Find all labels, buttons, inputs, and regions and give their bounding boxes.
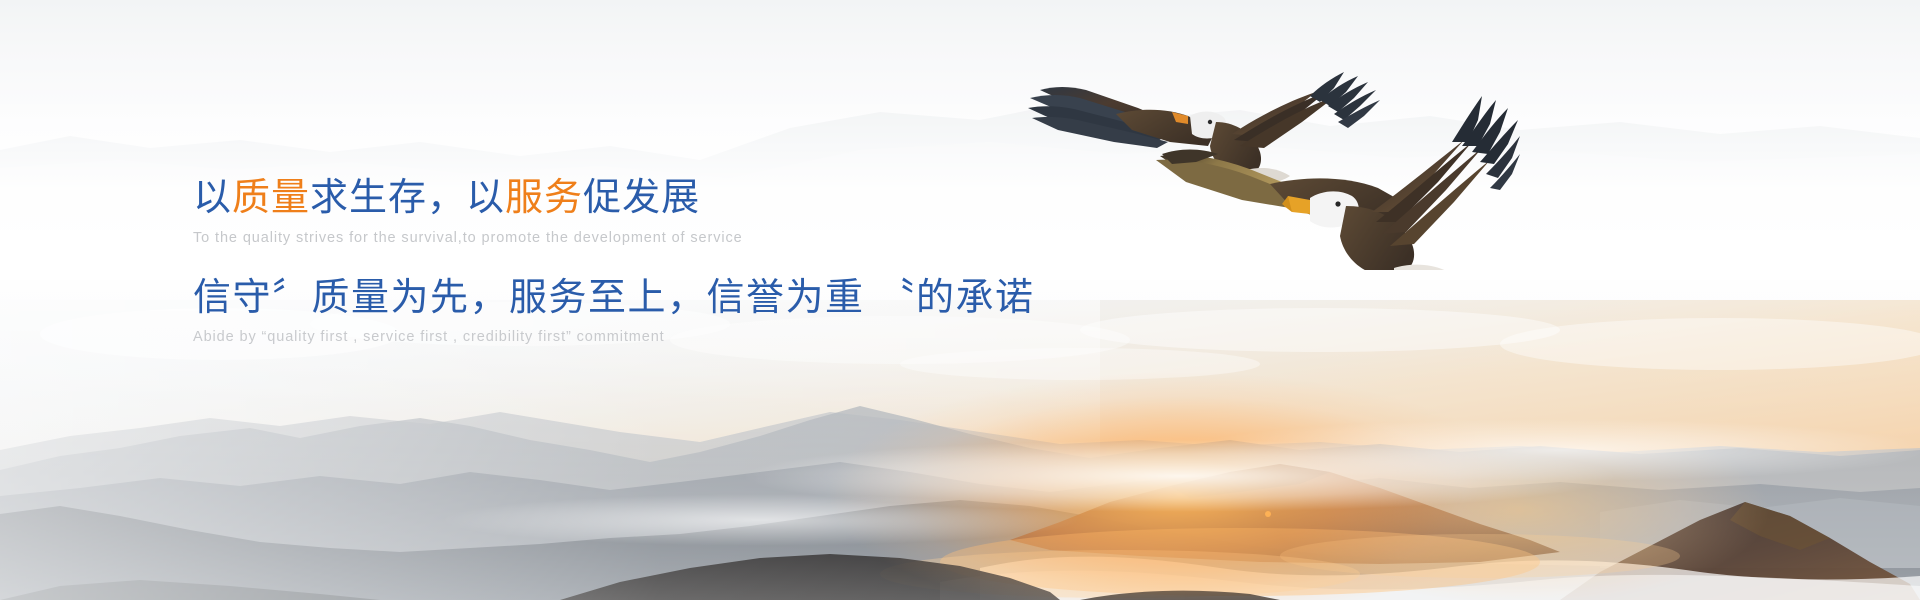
headline-1-seg-2: 求生存，以 [310, 177, 505, 219]
headline-secondary: 信守〞质量为先，服务至上，信誉为重 〝的承诺 [193, 276, 1293, 321]
promotional-banner: 以质量求生存，以服务促发展 To the quality strives for… [0, 0, 1920, 600]
headline-primary: 以质量求生存，以服务促发展 [193, 176, 1293, 221]
headline-secondary-wrap: 信守〞质量为先，服务至上，信誉为重 〝的承诺 Abide by “quality… [193, 276, 1293, 350]
headline-1-seg-3: 服务 [505, 177, 583, 219]
slogan-text-block: 以质量求生存，以服务促发展 To the quality strives for… [193, 176, 1293, 349]
headline-1-seg-1: 质量 [232, 177, 310, 219]
headline-2-seg-0: 信守〞质量为先，服务至上，信誉为重 〝的承诺 [193, 277, 1035, 319]
subtitle-secondary: Abide by “quality first , service first … [193, 327, 1293, 349]
headline-1-seg-0: 以 [193, 177, 232, 219]
subtitle-primary: To the quality strives for the survival,… [193, 228, 1293, 250]
headline-1-seg-4: 促发展 [583, 177, 700, 219]
